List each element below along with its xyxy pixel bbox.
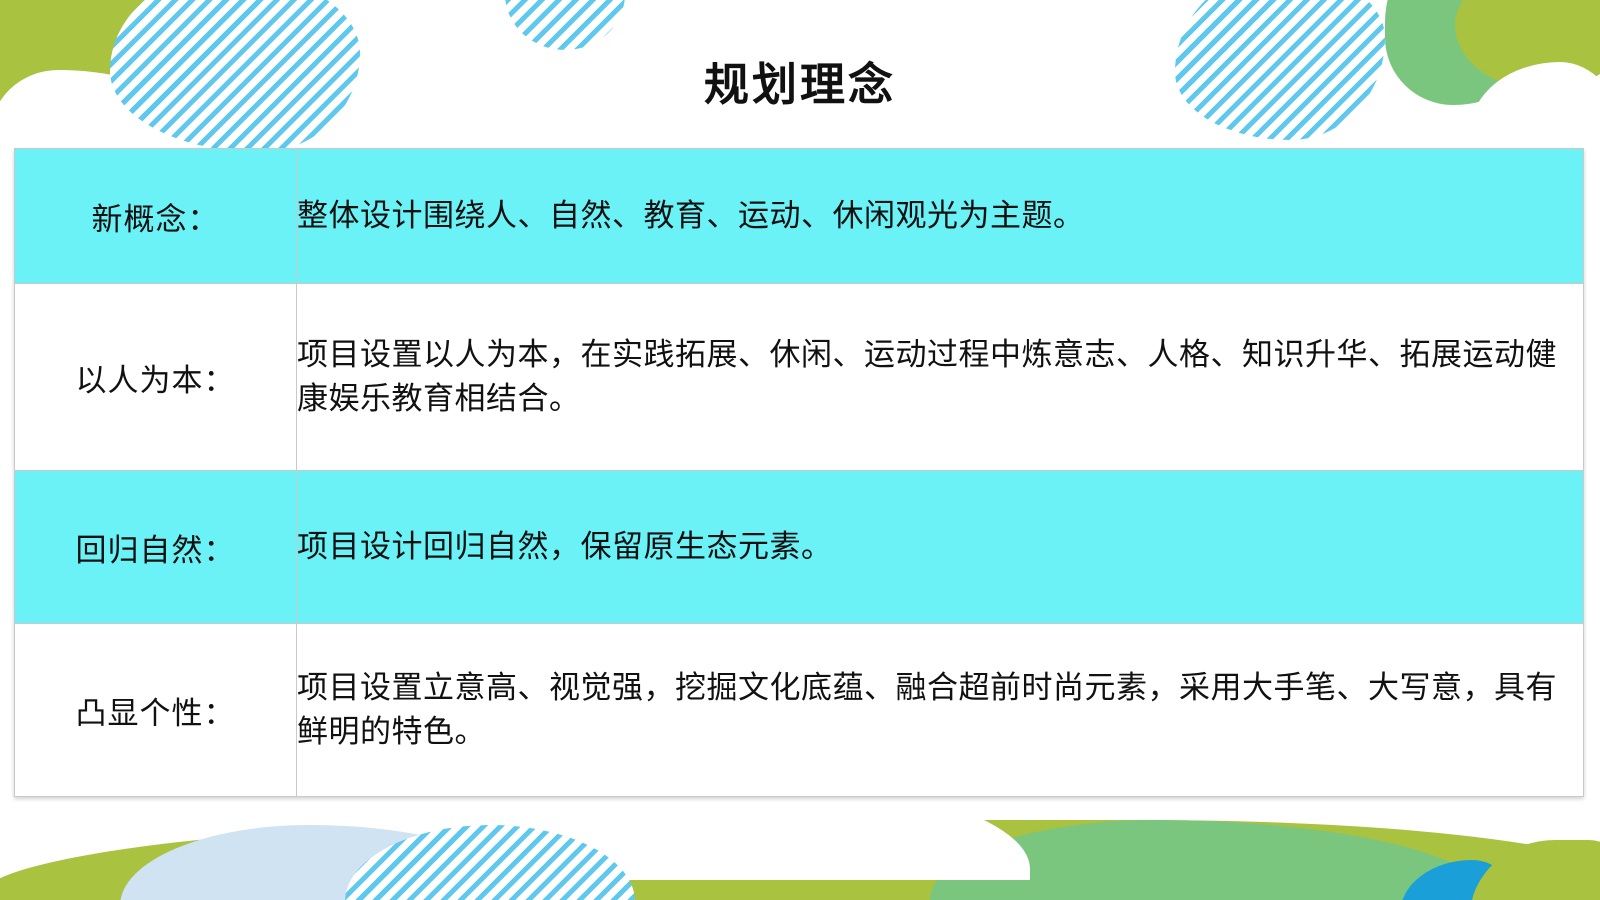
planning-concept-table: 新概念： 整体设计围绕人、自然、教育、运动、休闲观光为主题。 以人为本： 项目设…: [14, 148, 1584, 797]
decor-bottom-blue-shape: [120, 825, 540, 900]
table-row: 回归自然： 项目设计回归自然，保留原生态元素。: [15, 471, 1584, 624]
decor-bottom-olive-band: [0, 820, 1600, 900]
page-title: 规划理念: [0, 48, 1600, 113]
decor-bottom-green-shape: [930, 820, 1490, 900]
row-label: 新概念：: [15, 149, 297, 284]
row-label: 回归自然：: [15, 471, 297, 624]
row-label: 以人为本：: [15, 284, 297, 471]
stripe-pattern: [505, 0, 625, 50]
table-row: 新概念： 整体设计围绕人、自然、教育、运动、休闲观光为主题。: [15, 149, 1584, 284]
row-text: 整体设计围绕人、自然、教育、运动、休闲观光为主题。: [297, 149, 1584, 284]
row-text: 项目设置以人为本，在实践拓展、休闲、运动过程中炼意志、人格、知识升华、拓展运动健…: [297, 284, 1584, 471]
row-label: 凸显个性：: [15, 624, 297, 797]
decor-bottom-striped-blob: [345, 825, 635, 900]
decor-bottom-teal-shape: [1400, 860, 1520, 900]
row-text: 项目设计回归自然，保留原生态元素。: [297, 471, 1584, 624]
slide: 规划理念 新概念： 整体设计围绕人、自然、教育、运动、休闲观光为主题。 以人为本…: [0, 0, 1600, 900]
decor-top-center-striped-blob: [505, 0, 625, 50]
table-row: 以人为本： 项目设置以人为本，在实践拓展、休闲、运动过程中炼意志、人格、知识升华…: [15, 284, 1584, 471]
table-row: 凸显个性： 项目设置立意高、视觉强，挖掘文化底蕴、融合超前时尚元素，采用大手笔、…: [15, 624, 1584, 797]
row-text: 项目设置立意高、视觉强，挖掘文化底蕴、融合超前时尚元素，采用大手笔、大写意，具有…: [297, 624, 1584, 797]
stripe-pattern: [345, 825, 635, 900]
decor-bottom-olive-shape-right: [1470, 840, 1600, 900]
